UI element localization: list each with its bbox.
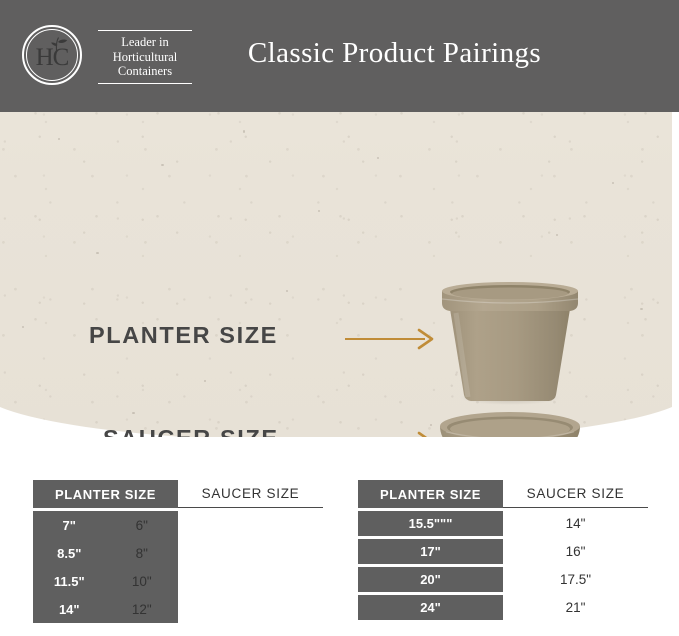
table-row: 24" 21": [358, 595, 648, 623]
planter-size-label: PLANTER SIZE: [89, 322, 278, 349]
table-row: 11.5" 10": [33, 567, 178, 595]
table-row: 8.5" 8": [33, 539, 178, 567]
table-header-row: PLANTER SIZE SAUCER SIZE: [33, 480, 323, 508]
saucer-dish-icon: [432, 410, 592, 437]
column-header-planter-size: PLANTER SIZE: [33, 480, 178, 508]
cell-planter-size: 7": [33, 511, 106, 539]
table-header-row: PLANTER SIZE SAUCER SIZE: [358, 480, 648, 508]
size-table-right: PLANTER SIZE SAUCER SIZE 15.5""" 14" 17"…: [358, 480, 648, 623]
page-title: Classic Product Pairings: [0, 37, 679, 70]
tagline-rule-top: [98, 30, 192, 31]
size-table-left: PLANTER SIZE SAUCER SIZE 7" 6" 8.5" 8" 1…: [33, 480, 323, 623]
cell-saucer-size: 17.5": [503, 567, 648, 592]
page-header: HC Leader in Horticultural Containers Cl…: [0, 0, 679, 112]
table-row: 7" 6": [33, 511, 178, 539]
cell-saucer-size: 12": [106, 595, 179, 623]
cell-planter-size: 24": [358, 595, 503, 620]
table-row: 17" 16": [358, 539, 648, 567]
table-row: 15.5""" 14": [358, 511, 648, 539]
tagline-rule-bottom: [98, 83, 192, 84]
cell-saucer-size: 21": [503, 595, 648, 620]
planter-pot-icon: [432, 277, 592, 407]
cell-saucer-size: 8": [106, 539, 179, 567]
cell-saucer-size: 6": [106, 511, 179, 539]
arrow-right-icon: [345, 327, 437, 351]
cell-saucer-size: 16": [503, 539, 648, 564]
saucer-size-label: SAUCER SIZE: [103, 425, 279, 437]
cell-saucer-size: 10": [106, 567, 179, 595]
cell-planter-size: 14": [33, 595, 106, 623]
column-header-saucer-size: SAUCER SIZE: [178, 480, 323, 508]
cell-planter-size: 17": [358, 539, 503, 564]
cell-planter-size: 15.5""": [358, 511, 503, 536]
column-header-saucer-size: SAUCER SIZE: [503, 480, 648, 508]
cell-saucer-size: 14": [503, 511, 648, 536]
arrow-right-icon: [345, 430, 437, 437]
cell-planter-size: 8.5": [33, 539, 106, 567]
cell-planter-size: 20": [358, 567, 503, 592]
cell-planter-size: 11.5": [33, 567, 106, 595]
table-body: 15.5""" 14" 17" 16" 20" 17.5" 24" 21": [358, 511, 648, 623]
column-header-planter-size: PLANTER SIZE: [358, 480, 503, 508]
table-row: 14" 12": [33, 595, 178, 623]
table-body: 7" 6" 8.5" 8" 11.5" 10" 14" 12": [33, 511, 178, 623]
hero-panel: PLANTER SIZE SAUCER SIZE: [0, 112, 672, 437]
table-row: 20" 17.5": [358, 567, 648, 595]
